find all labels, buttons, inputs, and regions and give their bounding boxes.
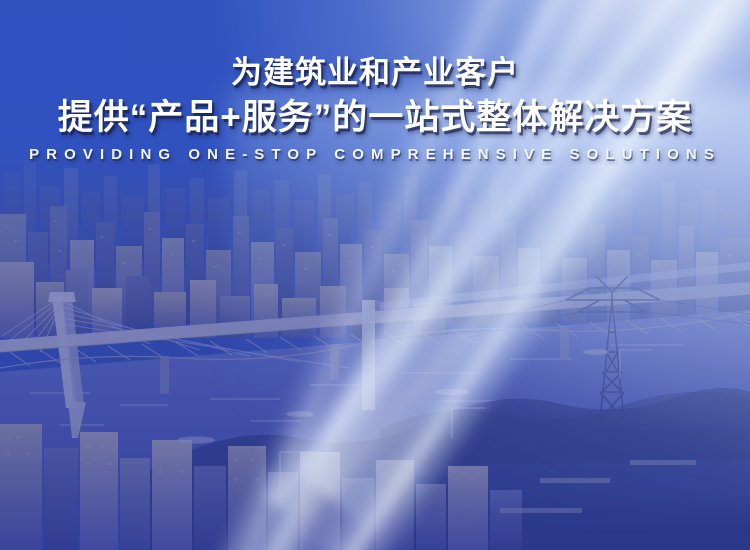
hero-banner: 为建筑业和产业客户 提供“产品+服务”的一站式整体解决方案 PROVIDING … xyxy=(0,0,750,550)
cityscape-illustration xyxy=(0,0,750,550)
